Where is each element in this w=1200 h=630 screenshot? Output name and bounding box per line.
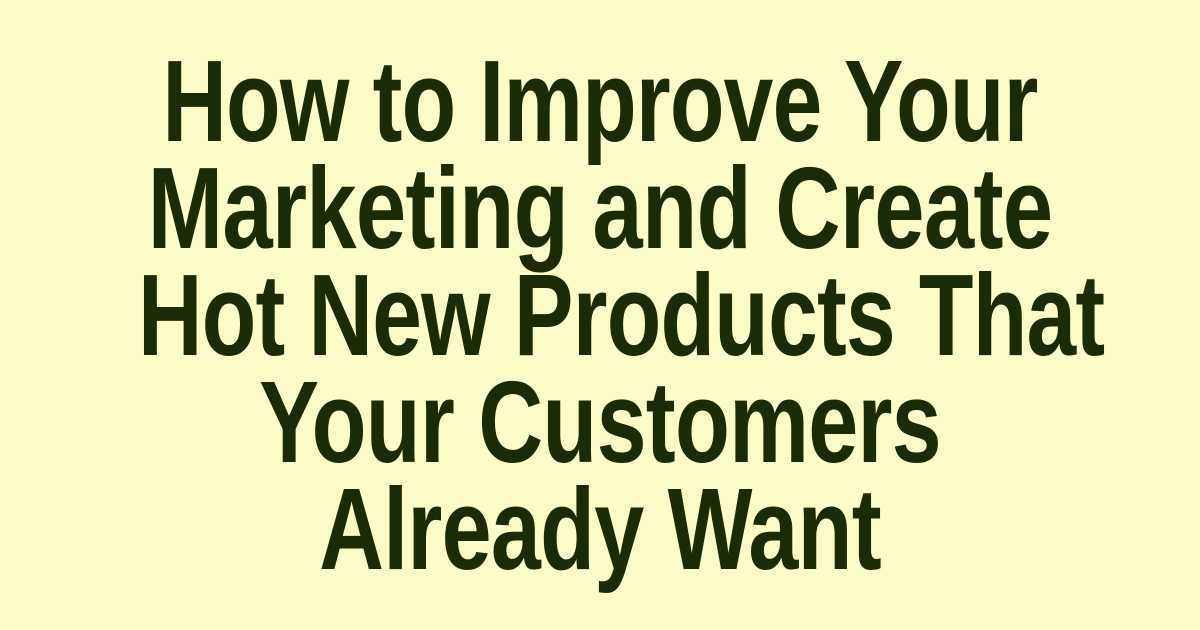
headline-line-3: Hot New Products That <box>138 262 1062 369</box>
headline-line-2: Marketing and Create <box>132 155 1068 262</box>
og-preview-card: How to Improve Your Marketing and Create… <box>0 0 1200 630</box>
headline-line-4: Your Customers <box>135 369 1065 476</box>
page-title: How to Improve Your Marketing and Create… <box>0 48 1200 583</box>
headline-line-1: How to Improve Your <box>138 48 1062 155</box>
headline-line-5: Already Want <box>135 476 1065 583</box>
